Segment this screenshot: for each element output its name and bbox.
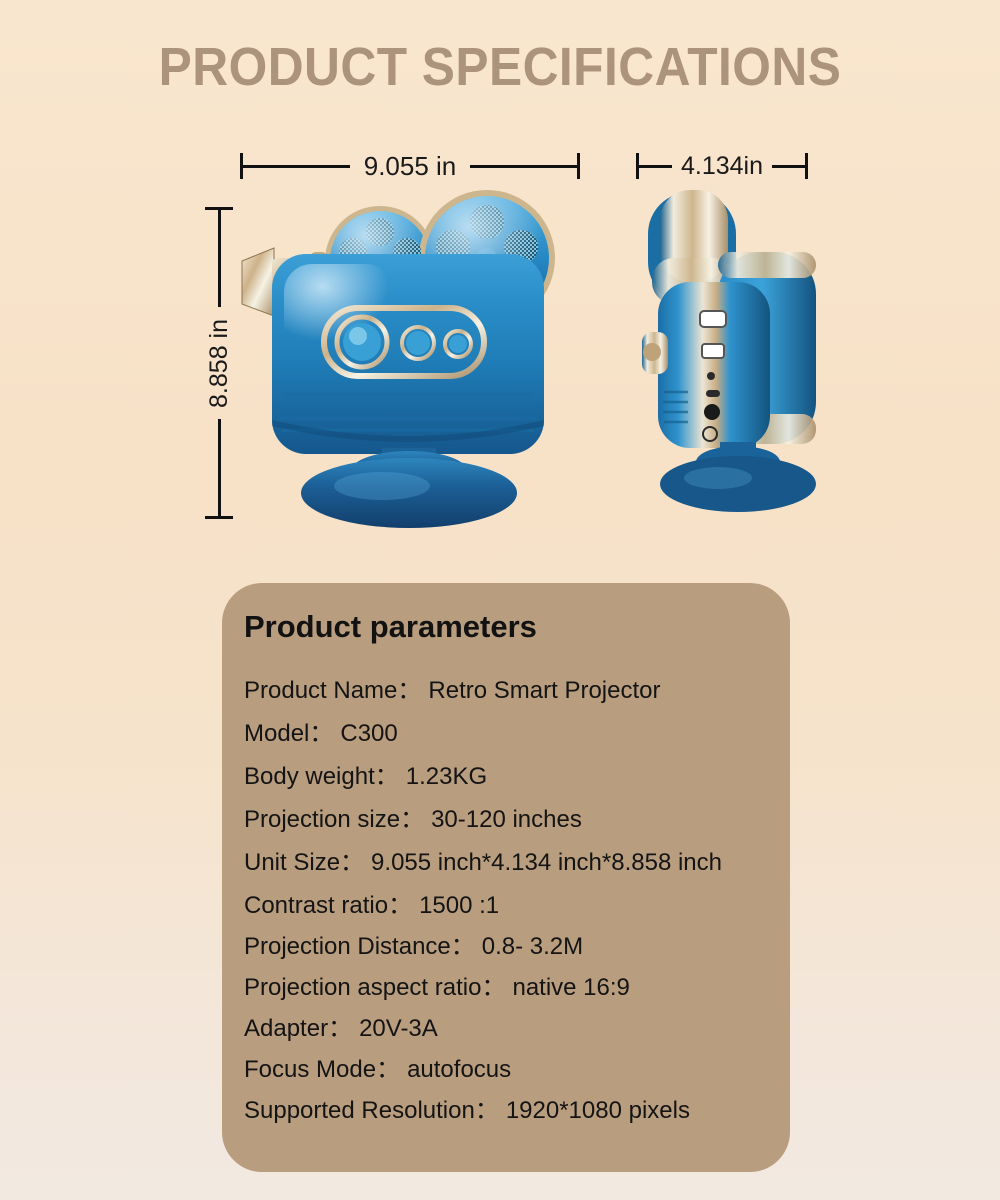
spec-value: 0.8- 3.2M bbox=[482, 933, 583, 960]
dimension-rule-bottom bbox=[218, 419, 221, 516]
spec-key: Projection Distance bbox=[244, 933, 451, 960]
spec-key: Product Name bbox=[244, 677, 397, 704]
spec-colon: ： bbox=[376, 1056, 400, 1083]
dimension-rule-left bbox=[243, 165, 350, 168]
spec-key: Unit Size bbox=[244, 849, 340, 876]
dimension-cap-right bbox=[805, 153, 808, 179]
spec-key: Model bbox=[244, 720, 309, 747]
projector-side-illustration bbox=[618, 186, 848, 536]
spec-row-focus-mode: Focus Mode：autofocus bbox=[244, 1058, 790, 1082]
spec-value: 1.23KG bbox=[406, 763, 487, 790]
spec-colon: ： bbox=[328, 1015, 352, 1042]
spec-colon: ： bbox=[400, 806, 424, 833]
spec-row-contrast-ratio: Contrast ratio：1500 :1 bbox=[244, 894, 790, 918]
spec-value: native 16:9 bbox=[512, 974, 629, 1001]
spec-value: 20V-3A bbox=[359, 1015, 438, 1042]
spec-colon: ： bbox=[375, 763, 399, 790]
spec-key: Focus Mode bbox=[244, 1056, 376, 1083]
spec-colon: ： bbox=[388, 892, 412, 919]
dimension-depth: 4.134in bbox=[636, 151, 808, 181]
spec-row-projection-size: Projection size：30-120 inches bbox=[244, 808, 790, 832]
projector-body bbox=[272, 254, 544, 454]
dimension-width: 9.055 in bbox=[240, 151, 580, 181]
spec-panel-heading: Product parameters bbox=[244, 609, 790, 645]
spec-value: Retro Smart Projector bbox=[428, 677, 660, 704]
spec-key: Body weight bbox=[244, 763, 375, 790]
spec-key: Adapter bbox=[244, 1015, 328, 1042]
spec-key: Projection size bbox=[244, 806, 400, 833]
spec-row-product-name: Product Name：Retro Smart Projector bbox=[244, 679, 790, 703]
spec-panel: Product parameters Product Name：Retro Sm… bbox=[222, 583, 790, 1172]
spec-key: Projection aspect ratio bbox=[244, 974, 481, 1001]
product-image-front bbox=[232, 186, 592, 536]
spec-row-supported-resolution: Supported Resolution：1920*1080 pixels bbox=[244, 1099, 790, 1123]
spec-colon: ： bbox=[309, 720, 333, 747]
spec-colon: ： bbox=[397, 677, 421, 704]
spec-colon: ： bbox=[475, 1097, 499, 1124]
spec-value: 1500 :1 bbox=[419, 892, 499, 919]
dimension-rule-right bbox=[470, 165, 577, 168]
dimension-cap-bottom bbox=[205, 516, 233, 519]
dimension-width-label: 9.055 in bbox=[350, 151, 471, 182]
spec-key: Contrast ratio bbox=[244, 892, 388, 919]
dimension-height-label: 8.858 in bbox=[205, 307, 234, 420]
product-image-side bbox=[618, 186, 848, 536]
spec-row-adapter: Adapter：20V-3A bbox=[244, 1017, 790, 1041]
side-body bbox=[642, 282, 770, 448]
dimension-rule-left bbox=[639, 165, 672, 168]
spec-key: Supported Resolution bbox=[244, 1097, 475, 1124]
spec-colon: ： bbox=[340, 849, 364, 876]
pedestal-base bbox=[301, 448, 517, 528]
pedestal-base-side bbox=[660, 442, 816, 512]
page-title: PRODUCT SPECIFICATIONS bbox=[40, 36, 960, 98]
spec-row-unit-size: Unit Size：9.055 inch*4.134 inch*8.858 in… bbox=[244, 851, 790, 875]
dimension-rule-top bbox=[218, 210, 221, 307]
spec-colon: ： bbox=[481, 974, 505, 1001]
dimension-cap-right bbox=[577, 153, 580, 179]
product-specification-page: PRODUCT SPECIFICATIONS 9.055 in 4.134in … bbox=[0, 0, 1000, 1200]
spec-value: C300 bbox=[340, 720, 397, 747]
dimension-rule-right bbox=[772, 165, 805, 168]
dimension-height: 8.858 in bbox=[203, 207, 235, 519]
spec-row-model: Model：C300 bbox=[244, 722, 790, 746]
spec-row-projection-distance: Projection Distance：0.8- 3.2M bbox=[244, 935, 790, 959]
projector-front-illustration bbox=[232, 186, 592, 536]
spec-value: 30-120 inches bbox=[431, 806, 582, 833]
spec-row-body-weight: Body weight：1.23KG bbox=[244, 765, 790, 789]
spec-colon: ： bbox=[451, 933, 475, 960]
spec-value: autofocus bbox=[407, 1056, 511, 1083]
spec-value: 1920*1080 pixels bbox=[506, 1097, 690, 1124]
spec-row-projection-aspect-ratio: Projection aspect ratio：native 16:9 bbox=[244, 976, 790, 1000]
spec-value: 9.055 inch*4.134 inch*8.858 inch bbox=[371, 849, 722, 876]
lens-edge bbox=[642, 332, 668, 374]
dimension-depth-label: 4.134in bbox=[672, 152, 772, 181]
